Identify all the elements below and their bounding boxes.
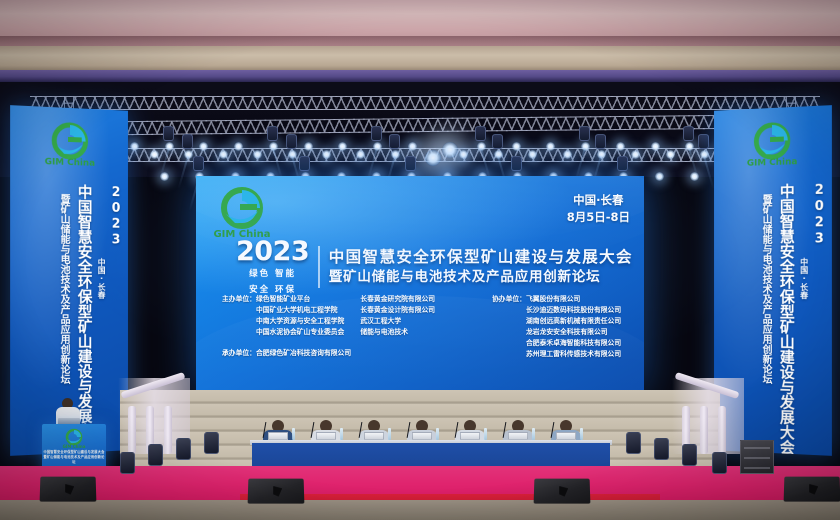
screen-dates: 8月5日-8日 <box>567 209 630 226</box>
water-bottle <box>532 428 535 440</box>
lighting-truss-lower <box>70 148 770 162</box>
moving-head-fixture <box>193 156 204 171</box>
stage-moving-light <box>712 452 727 474</box>
gim-china-logo-icon: GIM China <box>43 121 96 171</box>
baluster <box>718 406 726 454</box>
stage-moving-light <box>148 444 163 466</box>
organizers-list-a: 绿色智能矿业平台中国矿业大学机电工程学院中南大学资源与安全工程学院中国水泥协会矿… <box>256 294 344 338</box>
supporter-item: 龙岩龙安安全科技有限公司 <box>526 327 621 338</box>
moving-head-fixture <box>267 126 278 141</box>
stage-moving-light <box>204 432 219 454</box>
logo-wordmark: GIM China <box>63 444 86 449</box>
baluster <box>128 406 136 454</box>
banner-title-sub-left: 暨矿山储能与电池技术及产品应用创新论坛 <box>58 194 68 385</box>
water-bottle <box>340 428 343 440</box>
podium-title-line-2: 暨矿山储能与电池技术及产品应用创新论坛 <box>42 455 106 465</box>
gim-china-logo-icon: GIM China <box>746 121 799 171</box>
moving-head-fixture <box>579 126 590 141</box>
name-placard <box>460 432 480 440</box>
host-item: 合肥绿色矿冶科技咨询有限公司 <box>256 348 351 359</box>
moving-head-fixture <box>299 156 310 171</box>
stage-lamp <box>512 142 521 151</box>
stage-lamp <box>690 172 699 181</box>
stage-moving-light <box>626 432 641 454</box>
banner-title-sub-right: 暨矿山储能与电池技术及产品应用创新论坛 <box>760 194 770 384</box>
organizers-column-b: 长春黄金研究院有限公司长春黄金设计院有限公司武汉工程大学储能与电池技术 <box>360 294 435 338</box>
screen-event-meta: 中国·长春 8月5日-8日 <box>567 192 630 225</box>
stage-lamp <box>616 142 625 151</box>
stage-lamp <box>563 150 572 159</box>
supporter-item: 长沙迪迈数码科技股份有限公司 <box>526 305 621 316</box>
moving-head-fixture <box>617 156 628 171</box>
gim-china-logo-icon: GIM China <box>61 428 87 450</box>
stage-lamp <box>160 172 169 181</box>
stage-lamp <box>651 142 660 151</box>
stage-lamp <box>408 142 417 151</box>
moving-head-fixture <box>683 126 694 141</box>
name-placard <box>412 432 432 440</box>
stage-lamp <box>150 150 159 159</box>
venue-floor <box>0 500 840 520</box>
moving-head-fixture <box>286 134 297 149</box>
organizers-list-b: 长春黄金研究院有限公司长春黄金设计院有限公司武汉工程大学储能与电池技术 <box>360 294 435 338</box>
moving-head-fixture <box>475 126 486 141</box>
supporter-item: 合肥泰禾卓海智能科技有限公司 <box>526 338 621 349</box>
gim-china-logo-icon: GIM China <box>209 186 275 242</box>
moving-head-fixture <box>595 134 606 149</box>
stage-lamp <box>425 150 441 166</box>
floor-monitor <box>534 479 591 504</box>
moving-head-fixture <box>182 134 193 149</box>
name-placard <box>364 432 384 440</box>
screen-title-row: 2023 绿色 智能 安全 环保 中国智慧安全环保型矿山建设与发展大会 暨矿山储… <box>236 238 634 297</box>
screen-year: 2023 <box>236 238 309 265</box>
stage-lamp <box>322 150 331 159</box>
organizer-item: 长春黄金设计院有限公司 <box>360 305 435 316</box>
moving-head-fixture <box>389 134 400 149</box>
name-placard <box>268 432 288 440</box>
baluster <box>164 406 172 454</box>
floor-monitor <box>40 477 97 502</box>
banner-location-left: 中国·长春 <box>97 258 105 299</box>
water-bottle <box>436 428 439 440</box>
moving-head-fixture <box>163 126 174 141</box>
moving-head-fixture <box>492 134 503 149</box>
moving-head-fixture <box>405 156 416 171</box>
banner-year-left: 2023 <box>110 185 123 248</box>
title-divider <box>318 246 320 288</box>
water-bottle <box>292 428 295 440</box>
lighting-truss-upper <box>30 96 820 110</box>
road-case <box>740 440 774 474</box>
stage-moving-light <box>120 452 135 474</box>
stage-lamp <box>666 150 675 159</box>
water-bottle <box>484 428 487 440</box>
screen-supporters-block: 协办单位： 飞翼股份有限公司长沙迪迈数码科技股份有限公司湖南创远高新机械有限责任… <box>492 294 630 360</box>
organizer-item: 中南大学资源与安全工程学院 <box>256 316 344 327</box>
screen-title-main: 中国智慧安全环保型矿山建设与发展大会 <box>329 248 633 267</box>
screen-host-block: 承办单位： 合肥绿色矿冶科技咨询有限公司 <box>222 348 351 359</box>
name-placard <box>508 432 528 440</box>
moving-head-fixture <box>511 156 522 171</box>
screen-year-sub-1: 绿色 智能 <box>236 268 309 281</box>
water-bottle <box>580 428 583 440</box>
banner-year-right: 2023 <box>812 183 825 248</box>
banner-location-right: 中国·长春 <box>800 258 808 299</box>
supporter-item: 飞翼股份有限公司 <box>526 294 621 305</box>
name-placard <box>316 432 336 440</box>
stage-lamp <box>304 142 313 151</box>
stage-moving-light <box>682 444 697 466</box>
name-placard <box>556 432 576 440</box>
conference-stage-photo: GIM China 2023 中国·长春 中国智慧安全环保型矿山建设与发展大会 … <box>0 0 840 520</box>
stage-moving-light <box>176 438 191 460</box>
ceiling-reflected-sign <box>430 70 690 82</box>
moving-head-fixture <box>371 126 382 141</box>
ceiling-beam <box>0 46 840 72</box>
host-list: 合肥绿色矿冶科技咨询有限公司 <box>256 348 351 359</box>
screen-titles: 中国智慧安全环保型矿山建设与发展大会 暨矿山储能与电池技术及产品应用创新论坛 <box>329 248 633 287</box>
organizer-item: 储能与电池技术 <box>360 327 435 338</box>
supporters-column: 协办单位： 飞翼股份有限公司长沙迪迈数码科技股份有限公司湖南创远高新机械有限责任… <box>492 294 621 360</box>
screen-location: 中国·长春 <box>567 192 630 209</box>
supporters-list: 飞翼股份有限公司长沙迪迈数码科技股份有限公司湖南创远高新机械有限责任公司龙岩龙安… <box>526 294 621 360</box>
screen-year-block: 2023 绿色 智能 安全 环保 <box>236 238 309 297</box>
floor-monitor <box>248 479 305 504</box>
stage-moving-light <box>654 438 669 460</box>
stage-lamp <box>219 150 228 159</box>
water-bottle <box>388 428 391 440</box>
banner-title-main-right: 中国智慧安全环保型矿山建设与发展大会 <box>779 183 794 455</box>
organizer-item: 武汉工程大学 <box>360 316 435 327</box>
logo-wordmark: GIM China <box>747 157 797 169</box>
main-led-screen: GIM China 中国·长春 8月5日-8日 2023 绿色 智能 安全 环保… <box>196 176 644 391</box>
floor-monitor <box>784 477 840 502</box>
screen-title-sub: 暨矿山储能与电池技术及产品应用创新论坛 <box>329 268 633 286</box>
logo-wordmark: GIM China <box>45 157 95 169</box>
supporter-item: 苏州理工雷科传感技术有限公司 <box>526 349 621 360</box>
host-label: 承办单位： <box>222 348 256 359</box>
balustrade-right <box>672 378 744 454</box>
moving-head-fixture <box>698 134 709 149</box>
organizers-column: 主办单位： 绿色智能矿业平台中国矿业大学机电工程学院中南大学资源与安全工程学院中… <box>222 294 344 338</box>
stage-lamp <box>130 142 139 151</box>
stage-lamp <box>655 172 664 181</box>
supporters-label: 协办单位： <box>492 294 526 360</box>
organizer-item: 中国矿业大学机电工程学院 <box>256 305 344 316</box>
rail-left <box>121 372 186 399</box>
ceiling-light-cove <box>0 70 840 82</box>
organizer-item: 长春黄金研究院有限公司 <box>360 294 435 305</box>
organizers-label: 主办单位： <box>222 294 256 338</box>
organizer-item: 绿色智能矿业平台 <box>256 294 344 305</box>
organizer-item: 中国水泥协会矿山专业委员会 <box>256 327 344 338</box>
supporter-item: 湖南创远高新机械有限责任公司 <box>526 316 621 327</box>
baluster <box>700 406 708 454</box>
